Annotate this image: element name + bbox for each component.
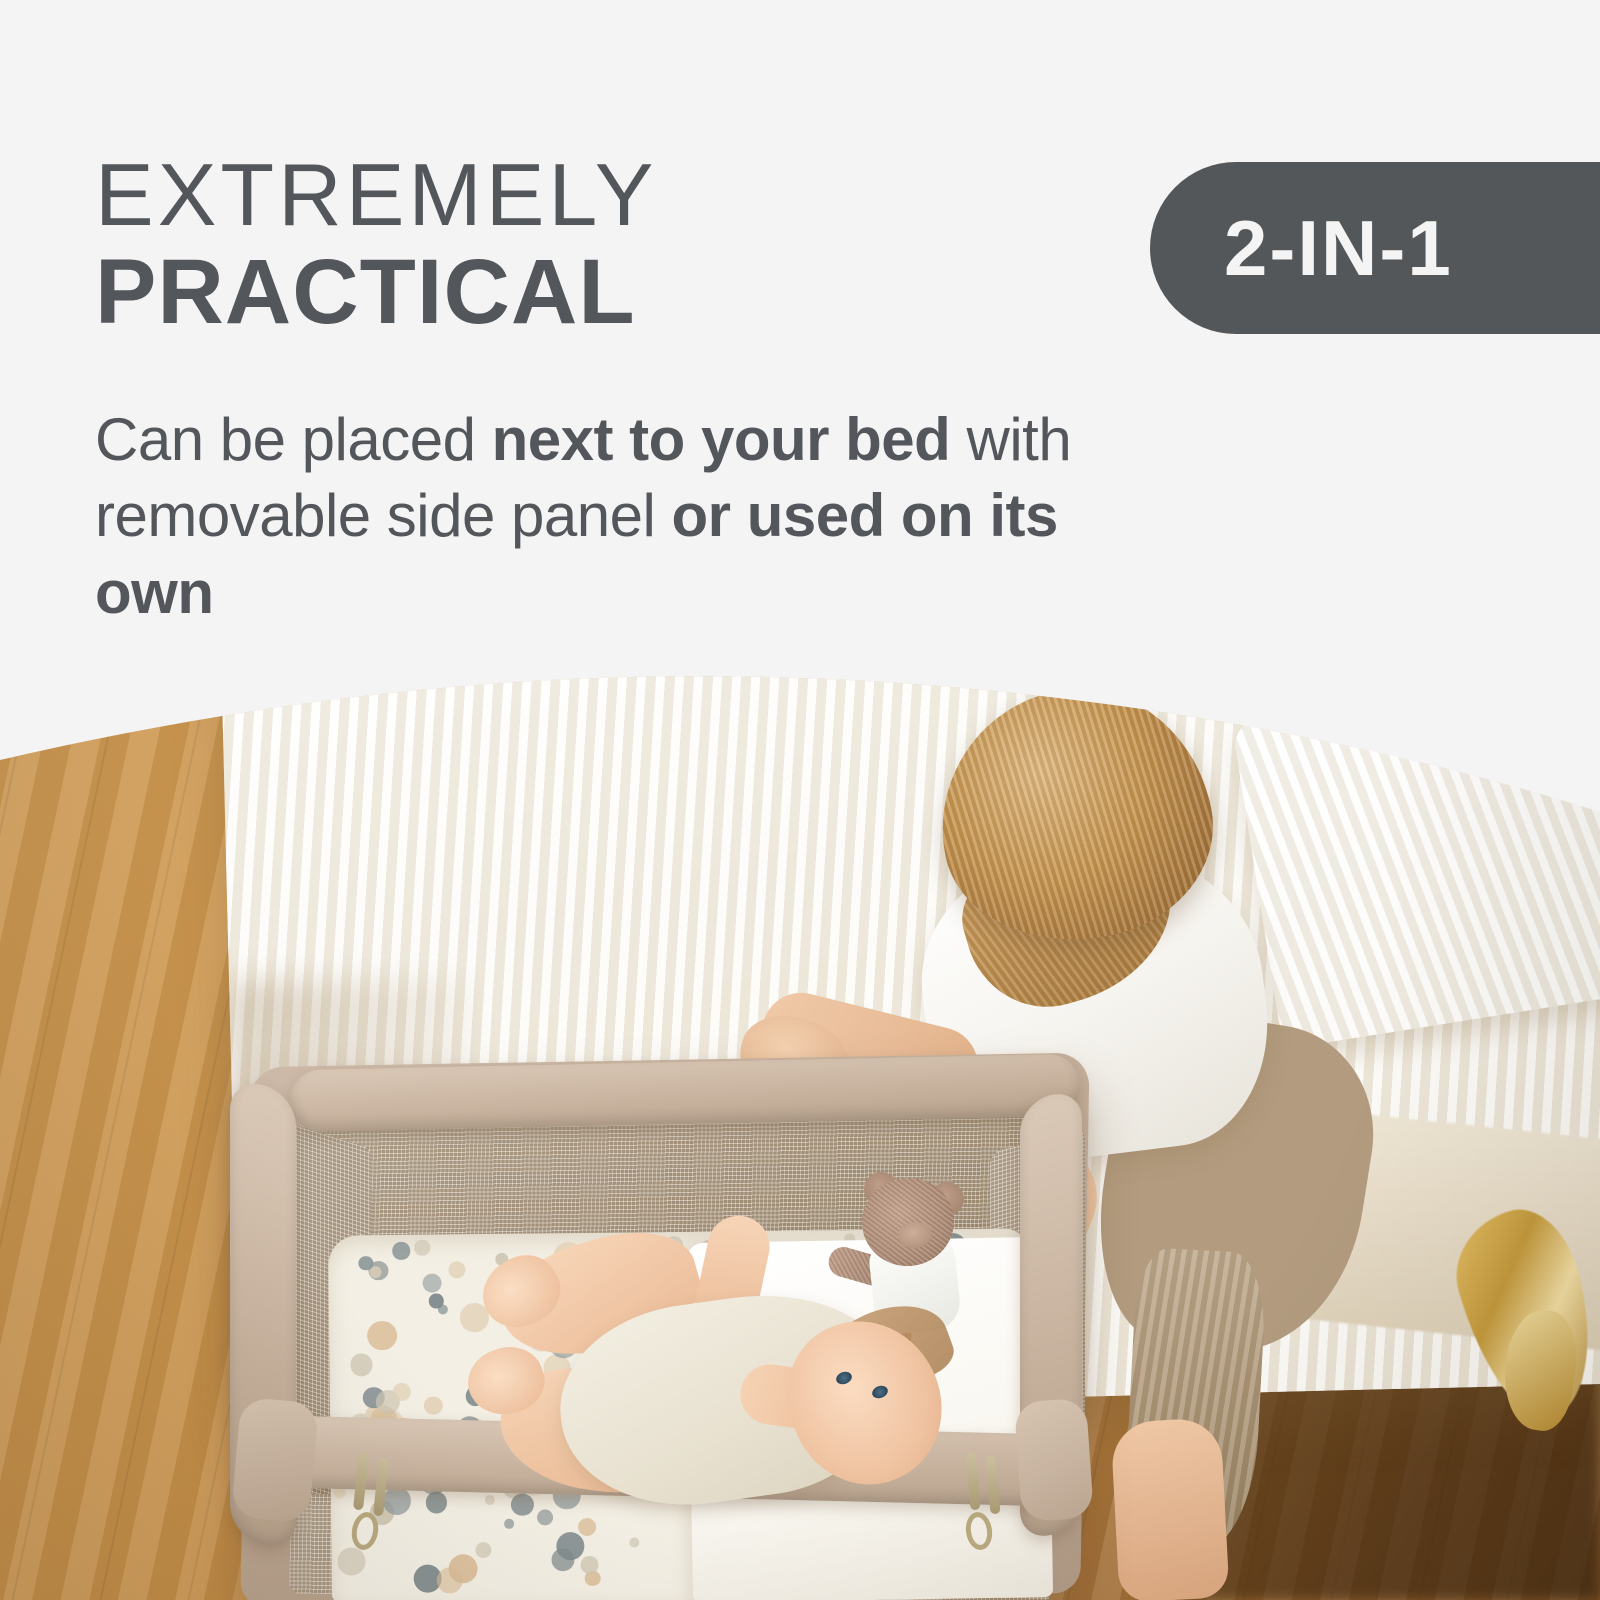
bassinet-post-bottom-left xyxy=(231,1397,319,1523)
subheading-part-1: Can be placed xyxy=(95,406,492,473)
polka-dot xyxy=(449,1261,466,1278)
bassinet-post-bottom-right xyxy=(1014,1398,1094,1523)
polka-dot xyxy=(485,1495,495,1505)
polka-dot xyxy=(537,1509,553,1525)
polka-dot xyxy=(475,1542,492,1559)
polka-dot xyxy=(429,1294,444,1309)
polka-dot xyxy=(505,1519,514,1528)
polka-dot xyxy=(383,1487,411,1515)
polka-dot xyxy=(437,1567,463,1593)
polka-dot xyxy=(630,1537,640,1547)
page-title: EXTREMELY PRACTICAL xyxy=(95,150,1145,340)
text-block: EXTREMELY PRACTICAL Can be placed next t… xyxy=(95,150,1145,632)
polka-dot xyxy=(511,1494,534,1517)
polka-dot xyxy=(393,1383,411,1401)
polka-dot xyxy=(338,1548,366,1576)
promo-banner: EXTREMELY PRACTICAL Can be placed next t… xyxy=(0,0,1600,1600)
headline-line-2: PRACTICAL xyxy=(95,246,1145,340)
headline-line-1: EXTREMELY xyxy=(95,150,1145,240)
polka-dot xyxy=(414,1240,429,1255)
polka-dot xyxy=(424,1396,443,1415)
polka-dot xyxy=(426,1492,447,1513)
polka-dot xyxy=(350,1353,373,1376)
polka-dot xyxy=(393,1242,410,1259)
pillow xyxy=(1232,661,1600,1050)
two-in-one-badge-label: 2-IN-1 xyxy=(1150,203,1453,294)
polka-dot xyxy=(578,1517,597,1536)
two-in-one-badge: 2-IN-1 xyxy=(1150,162,1600,334)
polka-dot xyxy=(556,1532,584,1560)
subheading-bold-1: next to your bed xyxy=(492,406,951,473)
polka-dot xyxy=(423,1274,442,1293)
subheading: Can be placed next to your bed with remo… xyxy=(95,402,1145,632)
polka-dot xyxy=(367,1321,397,1351)
woman-leg xyxy=(1110,1417,1229,1600)
